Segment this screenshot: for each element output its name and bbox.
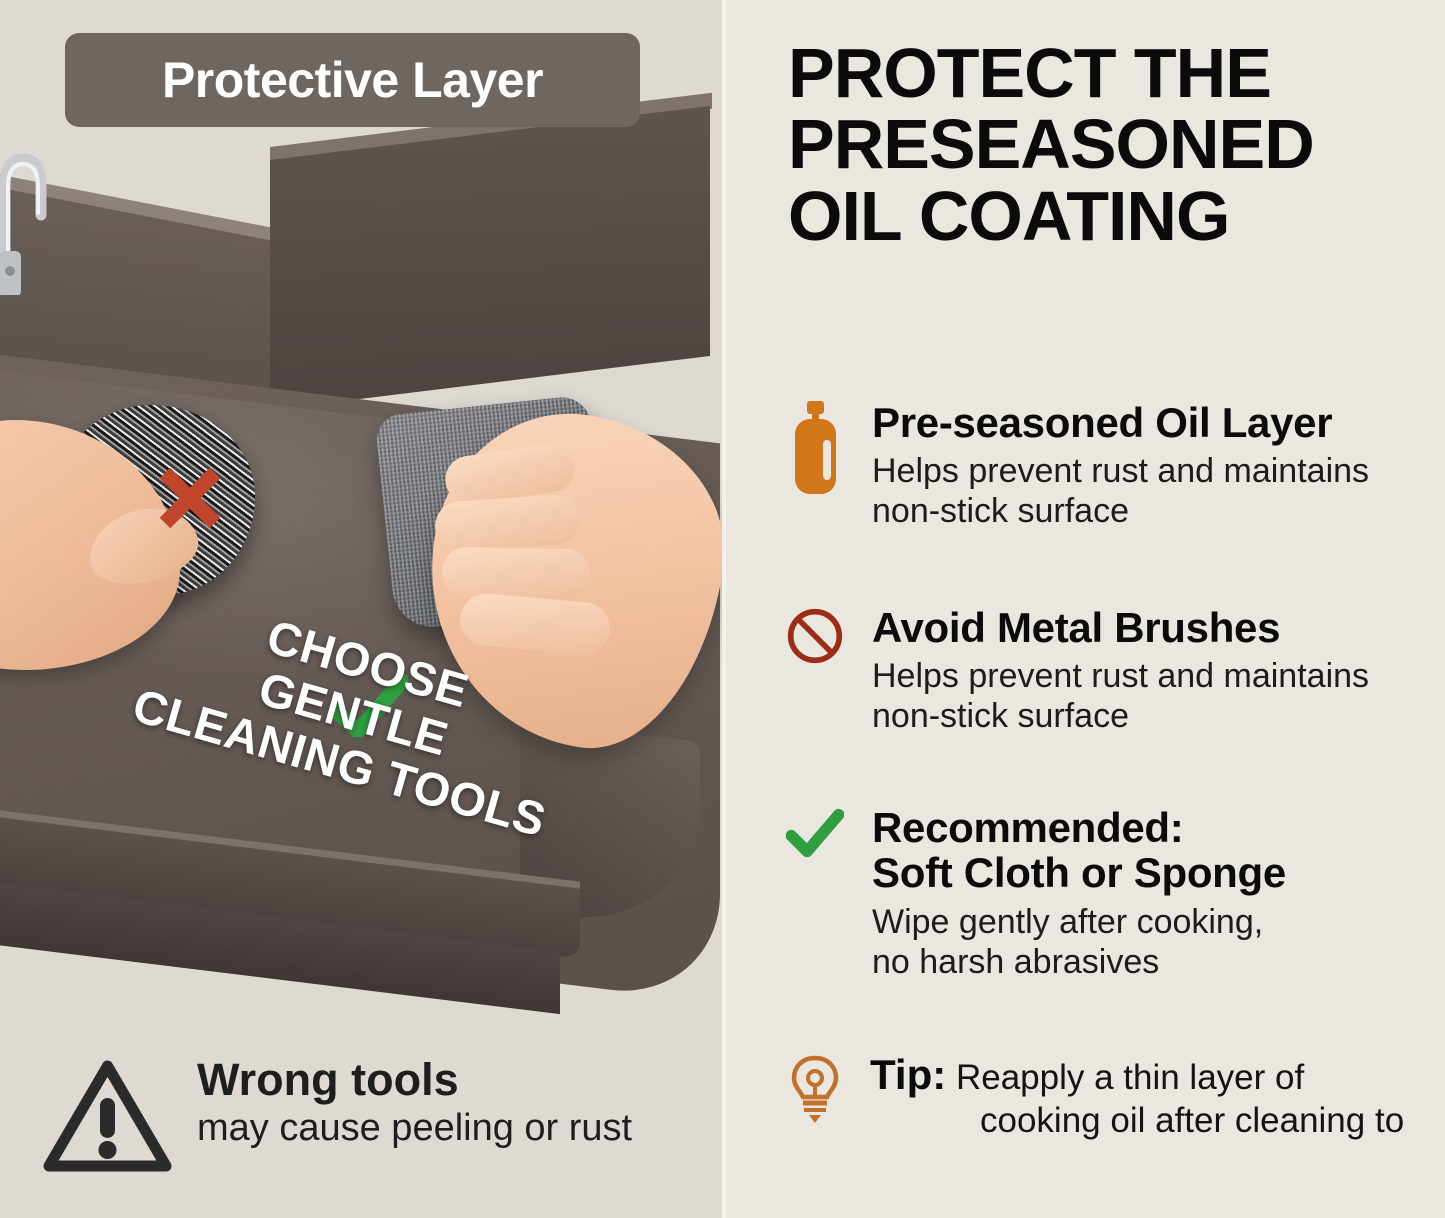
feature-desc-line: no harsh abrasives	[872, 942, 1445, 982]
no-entry-icon	[786, 605, 844, 737]
feature-title: Recommended: Soft Cloth or Sponge	[872, 805, 1445, 896]
feature-recommended-soft-cloth: Recommended: Soft Cloth or Sponge Wipe g…	[786, 805, 1445, 982]
tip-block: Tip: Reapply a thin layer of cooking oil…	[788, 1050, 1445, 1142]
warning-text-group: Wrong tools may cause peeling or rust	[197, 1048, 632, 1150]
feature-title: Pre-seasoned Oil Layer	[872, 400, 1436, 445]
wrong-tools-warning: Wrong tools may cause peeling or rust	[40, 1048, 690, 1198]
feature-desc-line: Wipe gently after cooking,	[872, 902, 1445, 942]
product-photo-panel: Protective Layer CHOOSE GENTLE CLEANING …	[0, 0, 722, 1218]
tip-line-1-text: Reapply a thin layer of	[956, 1058, 1304, 1097]
feature-title-line: Soft Cloth or Sponge	[872, 850, 1445, 895]
feature-pre-seasoned-oil-layer: Pre-seasoned Oil Layer Helps prevent rus…	[786, 400, 1436, 532]
feature-title-line: Avoid Metal Brushes	[872, 605, 1436, 650]
info-panel: PROTECT THE PRESEASONED OIL COATING Pre-…	[726, 0, 1445, 1218]
right-hand-finger	[442, 547, 591, 600]
feature-body: Pre-seasoned Oil Layer Helps prevent rus…	[872, 400, 1436, 532]
warning-triangle-icon	[40, 1054, 175, 1184]
protective-layer-badge: Protective Layer	[65, 33, 640, 127]
check-mark-icon	[786, 805, 844, 982]
tip-text: Tip: Reapply a thin layer of cooking oil…	[870, 1050, 1404, 1142]
feature-title-line: Recommended:	[872, 805, 1445, 850]
badge-label: Protective Layer	[162, 51, 543, 109]
warning-title: Wrong tools	[197, 1056, 632, 1103]
feature-title: Avoid Metal Brushes	[872, 605, 1436, 650]
feature-title-line: Pre-seasoned Oil Layer	[872, 400, 1436, 445]
oil-bottle-icon	[786, 400, 844, 532]
chrome-hanging-hook-icon	[0, 145, 49, 295]
lightbulb-icon	[788, 1054, 844, 1142]
feature-description: Helps prevent rust and maintains non-sti…	[872, 451, 1436, 531]
feature-description: Wipe gently after cooking, no harsh abra…	[872, 902, 1445, 982]
feature-body: Recommended: Soft Cloth or Sponge Wipe g…	[872, 805, 1445, 982]
warning-subtitle: may cause peeling or rust	[197, 1107, 632, 1150]
headline-line-1: PROTECT THE	[788, 38, 1428, 109]
feature-avoid-metal-brushes: Avoid Metal Brushes Helps prevent rust a…	[786, 605, 1436, 737]
right-hand-finger	[433, 493, 581, 553]
tip-line-1: Tip: Reapply a thin layer of	[870, 1050, 1404, 1100]
feature-desc-line: non-stick surface	[872, 696, 1436, 736]
headline-line-2: PRESEASONED	[788, 109, 1428, 180]
feature-body: Avoid Metal Brushes Helps prevent rust a…	[872, 605, 1436, 737]
feature-desc-line: non-stick surface	[872, 491, 1436, 531]
feature-description: Helps prevent rust and maintains non-sti…	[872, 656, 1436, 736]
tip-line-2: cooking oil after cleaning to	[870, 1100, 1404, 1142]
feature-desc-line: Helps prevent rust and maintains	[872, 451, 1436, 491]
griddle-back-wall-right	[270, 106, 710, 410]
tip-label: Tip:	[870, 1051, 946, 1098]
infographic-page: Protective Layer CHOOSE GENTLE CLEANING …	[0, 0, 1445, 1218]
headline-line-3: OIL COATING	[788, 181, 1428, 252]
feature-desc-line: Helps prevent rust and maintains	[872, 656, 1436, 696]
x-mark-icon	[155, 463, 225, 533]
page-title: PROTECT THE PRESEASONED OIL COATING	[788, 38, 1428, 252]
griddle-illustration	[0, 120, 722, 1080]
